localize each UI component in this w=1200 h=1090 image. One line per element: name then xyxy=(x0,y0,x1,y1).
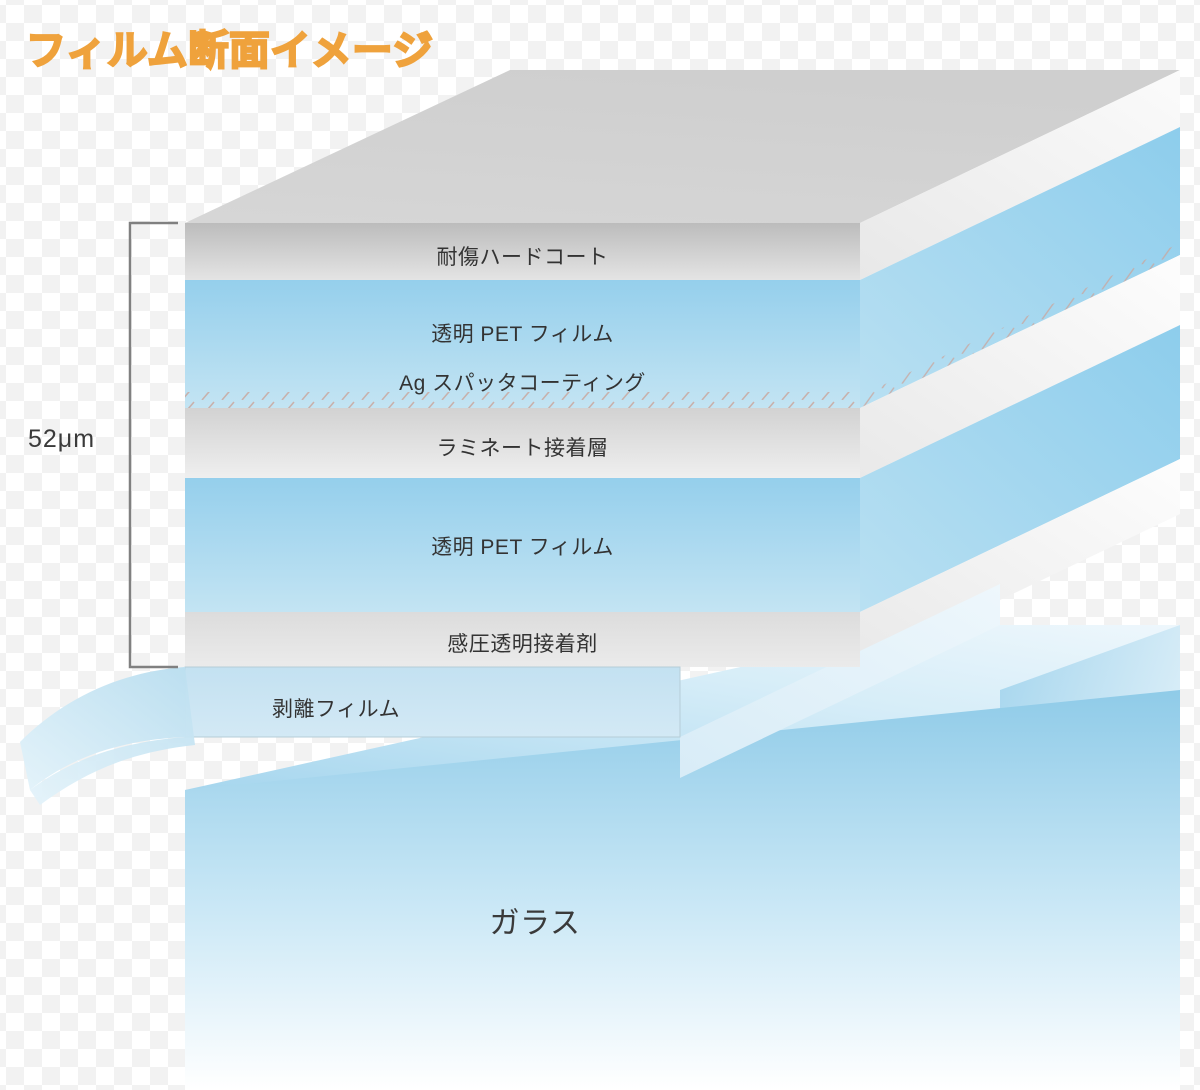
dimension-bracket xyxy=(130,223,178,667)
film-cross-section-diagram: フィルム断面イメージ xyxy=(0,0,1200,1090)
label-glass: ガラス xyxy=(185,898,885,942)
label-pressure-sensitive-adhesive: 感圧透明接着剤 xyxy=(185,628,860,658)
release-film-peel-curl xyxy=(20,667,185,790)
page-title: フィルム断面イメージ xyxy=(26,18,434,76)
dimension-label: 52μm xyxy=(28,425,95,454)
layer-release-film xyxy=(185,667,680,737)
label-pet-film-top: 透明 PET フィルム xyxy=(185,318,860,348)
label-ag-sputter-coating: Ag スパッタコーティング xyxy=(185,367,860,397)
label-laminate-adhesive: ラミネート接着層 xyxy=(185,432,860,462)
label-pet-film-bottom: 透明 PET フィルム xyxy=(185,531,860,561)
label-hard-coat: 耐傷ハードコート xyxy=(185,241,860,271)
label-release-film: 剥離フィルム xyxy=(272,693,400,723)
stack-front-faces xyxy=(185,223,860,737)
dimension-bracket-path xyxy=(130,223,178,667)
